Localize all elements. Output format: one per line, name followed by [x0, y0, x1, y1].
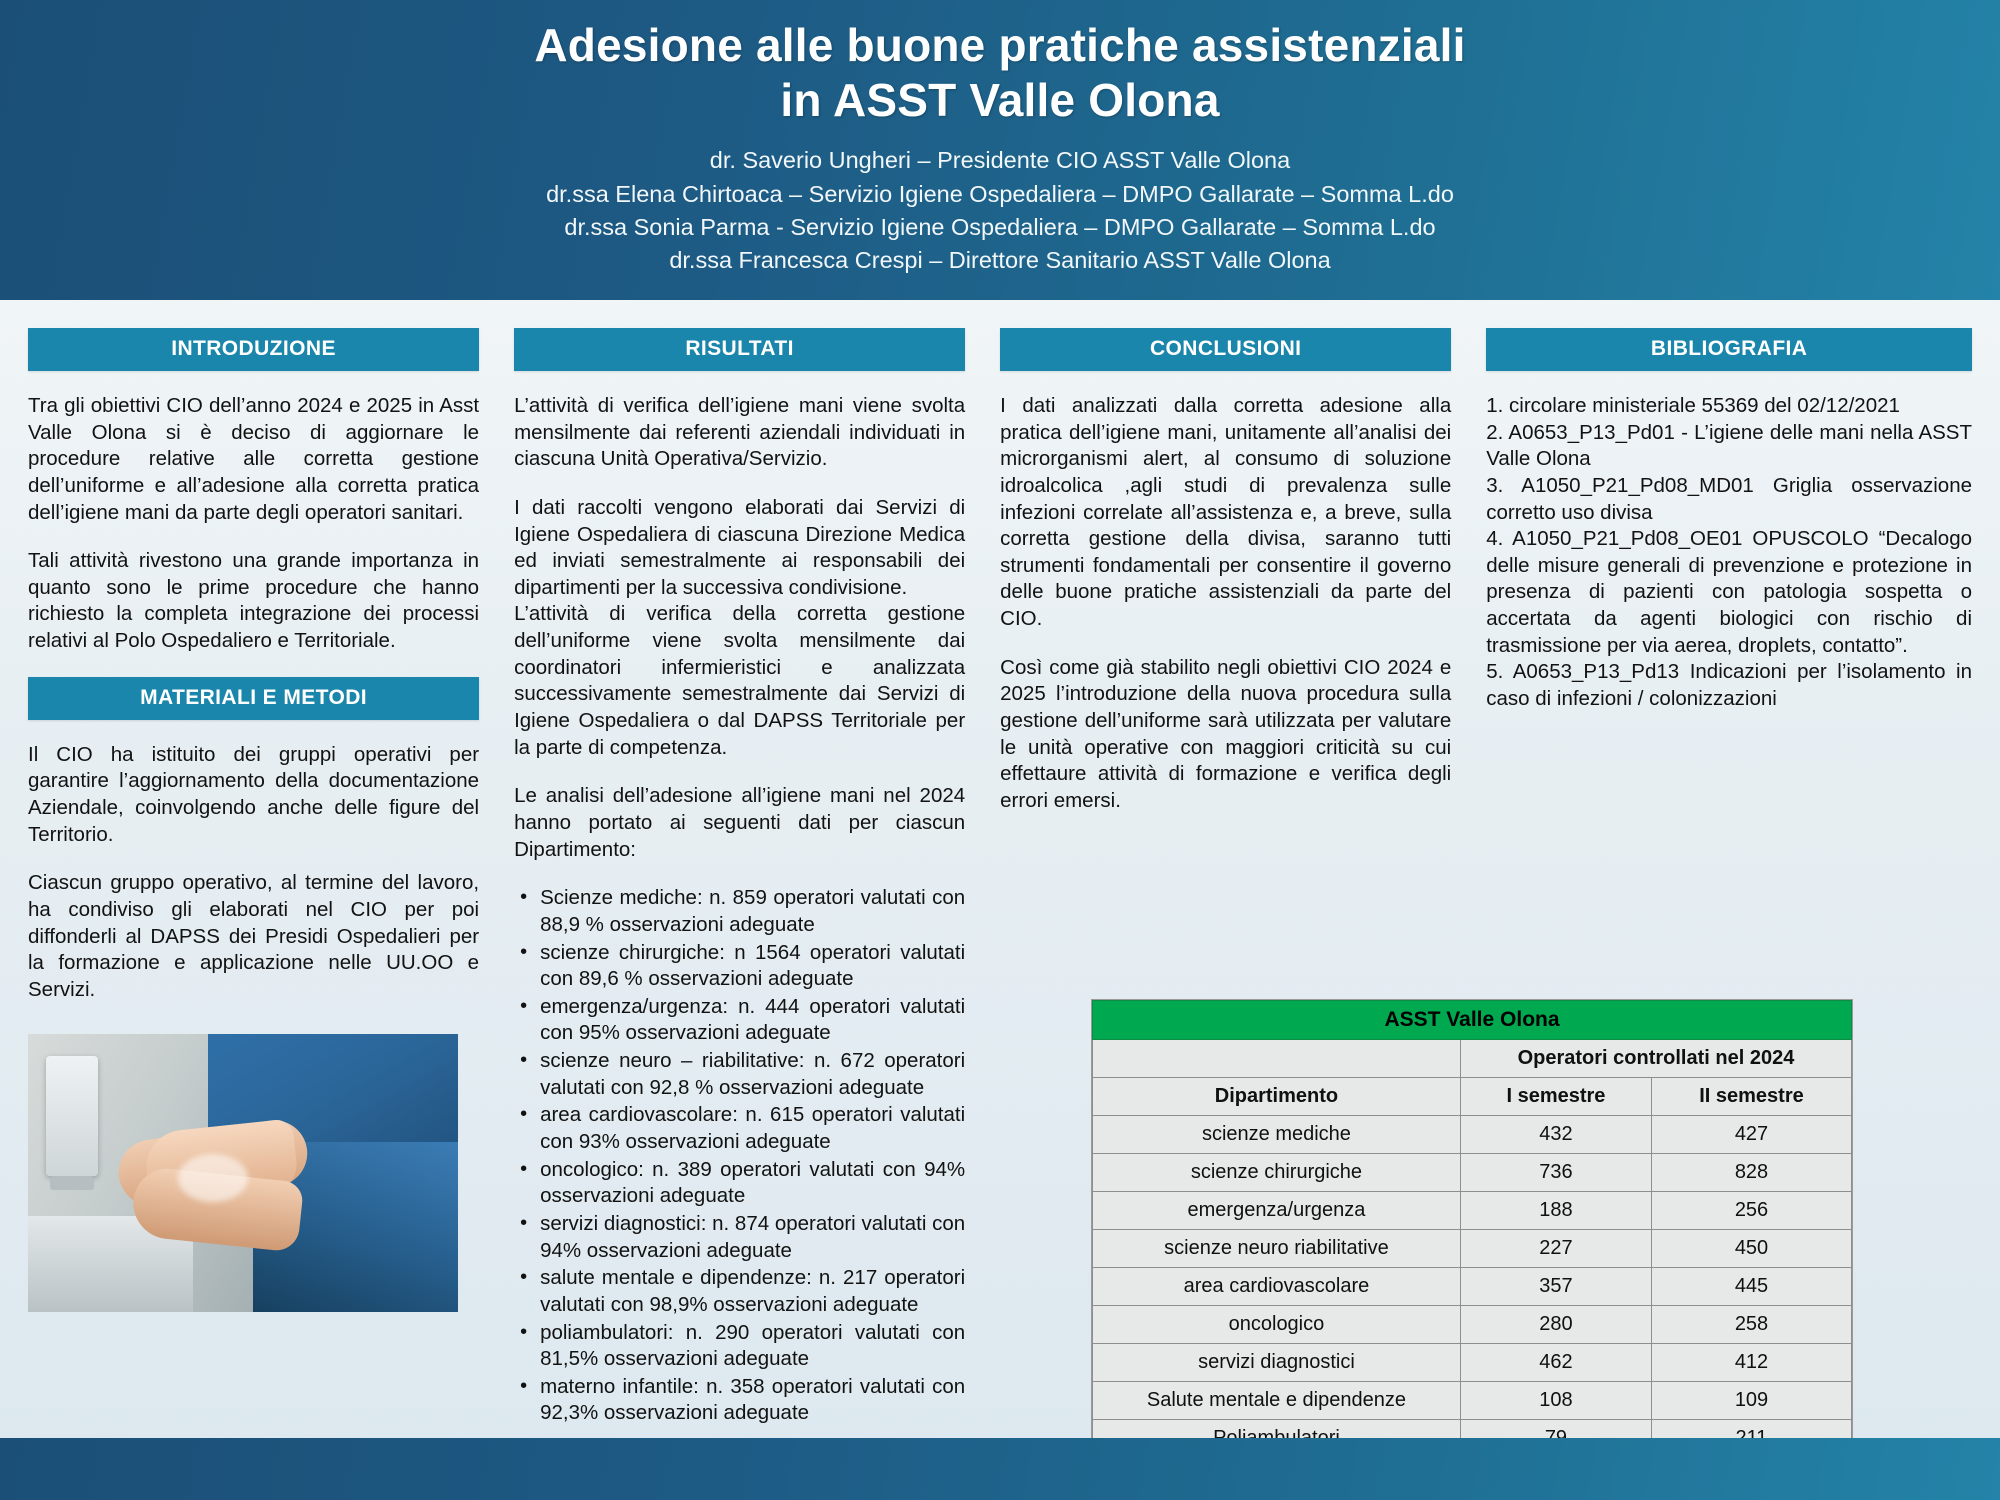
row-value-ii: 109	[1652, 1382, 1852, 1420]
table-row: servizi diagnostici 462 412	[1093, 1344, 1852, 1382]
column-header-ii-semestre: II semestre	[1652, 1078, 1852, 1116]
bibliography-entry: 5. A0653_P13_Pd13 Indicazioni per l’isol…	[1486, 659, 1972, 712]
list-item: salute mentale e dipendenze: n. 217 oper…	[514, 1265, 965, 1318]
risultati-paragraph-2: I dati raccolti vengono elaborati dai Se…	[514, 495, 965, 602]
table-supertitle: Operatori controllati nel 2024	[1460, 1040, 1851, 1078]
row-label: oncologico	[1093, 1306, 1461, 1344]
materiali-paragraph-2: Ciascun gruppo operativo, al termine del…	[28, 870, 479, 1003]
row-value-i: 227	[1460, 1230, 1651, 1268]
row-value-ii: 450	[1652, 1230, 1852, 1268]
table-row: scienze chirurgiche 736 828	[1093, 1154, 1852, 1192]
row-label: area cardiovascolare	[1093, 1268, 1461, 1306]
row-value-i: 108	[1460, 1382, 1651, 1420]
foam-shape	[178, 1154, 248, 1202]
table-row: scienze mediche 432 427	[1093, 1116, 1852, 1154]
row-value-i: 188	[1460, 1192, 1651, 1230]
row-label: scienze neuro riabilitative	[1093, 1230, 1461, 1268]
row-value-i: 280	[1460, 1306, 1651, 1344]
list-item: Scienze mediche: n. 859 operatori valuta…	[514, 885, 965, 938]
column-left: INTRODUZIONE Tra gli obiettivi CIO dell’…	[28, 328, 514, 1440]
table-supertitle-row: Operatori controllati nel 2024	[1093, 1040, 1852, 1078]
introduzione-paragraph-2: Tali attività rivestono una grande impor…	[28, 548, 479, 655]
row-label: Salute mentale e dipendenze	[1093, 1382, 1461, 1420]
row-label: servizi diagnostici	[1093, 1344, 1461, 1382]
section-banner-introduzione: INTRODUZIONE	[28, 328, 479, 371]
operators-table: ASST Valle Olona Operatori controllati n…	[1092, 1000, 1852, 1500]
risultati-paragraph-4: Le analisi dell’adesione all’igiene mani…	[514, 783, 965, 863]
table-blank-cell	[1093, 1040, 1461, 1078]
row-value-i: 736	[1460, 1154, 1651, 1192]
row-value-ii: 412	[1652, 1344, 1852, 1382]
table-row: scienze neuro riabilitative 227 450	[1093, 1230, 1852, 1268]
introduzione-paragraph-1: Tra gli obiettivi CIO dell’anno 2024 e 2…	[28, 393, 479, 526]
dispenser-lever-icon	[50, 1176, 94, 1190]
author-line: dr.ssa Elena Chirtoaca – Servizio Igiene…	[0, 178, 2000, 211]
row-value-ii: 258	[1652, 1306, 1852, 1344]
bibliography-entry: 1. circolare ministeriale 55369 del 02/1…	[1486, 393, 1972, 420]
hand-hygiene-photo	[28, 1034, 458, 1312]
materiali-paragraph-1: Il CIO ha istituito dei gruppi operativi…	[28, 742, 479, 849]
bibliography-entry: 2. A0653_P13_Pd01 - L’igiene delle mani …	[1486, 420, 1972, 473]
row-value-ii: 256	[1652, 1192, 1852, 1230]
column-header-i-semestre: I semestre	[1460, 1078, 1651, 1116]
footer-strip	[0, 1438, 2000, 1500]
bibliography-list: 1. circolare ministeriale 55369 del 02/1…	[1486, 393, 1972, 713]
row-value-i: 462	[1460, 1344, 1651, 1382]
page-title: Adesione alle buone pratiche assistenzia…	[0, 18, 2000, 128]
list-item: oncologico: n. 389 operatori valutati co…	[514, 1157, 965, 1210]
column-header-dipartimento: Dipartimento	[1093, 1078, 1461, 1116]
table-header-row: Dipartimento I semestre II semestre	[1093, 1078, 1852, 1116]
conclusioni-paragraph-2: Così come già stabilito negli obiettivi …	[1000, 655, 1451, 815]
table-row: Salute mentale e dipendenze 108 109	[1093, 1382, 1852, 1420]
risultati-bullet-list: Scienze mediche: n. 859 operatori valuta…	[514, 885, 965, 1427]
soap-dispenser-icon	[46, 1056, 98, 1176]
page-title-line-1: Adesione alle buone pratiche assistenzia…	[0, 18, 2000, 73]
table-row: emergenza/urgenza 188 256	[1093, 1192, 1852, 1230]
section-banner-bibliografia: BIBLIOGRAFIA	[1486, 328, 1972, 371]
section-banner-risultati: RISULTATI	[514, 328, 965, 371]
row-label: emergenza/urgenza	[1093, 1192, 1461, 1230]
table-title: ASST Valle Olona	[1093, 1001, 1852, 1040]
list-item: materno infantile: n. 358 operatori valu…	[514, 1374, 965, 1427]
risultati-paragraph-1: L’attività di verifica dell’igiene mani …	[514, 393, 965, 473]
row-label: scienze mediche	[1093, 1116, 1461, 1154]
table-row: area cardiovascolare 357 445	[1093, 1268, 1852, 1306]
table-row: oncologico 280 258	[1093, 1306, 1852, 1344]
row-value-ii: 427	[1652, 1116, 1852, 1154]
table-title-row: ASST Valle Olona	[1093, 1001, 1852, 1040]
bibliography-entry: 4. A1050_P21_Pd08_OE01 OPUSCOLO “Decalog…	[1486, 526, 1972, 659]
list-item: emergenza/urgenza: n. 444 operatori valu…	[514, 994, 965, 1047]
risultati-paragraph-3: L’attività di verifica della corretta ge…	[514, 601, 965, 761]
author-list: dr. Saverio Ungheri – Presidente CIO ASS…	[0, 144, 2000, 277]
section-banner-materiali-e-metodi: MATERIALI E METODI	[28, 677, 479, 720]
author-line: dr.ssa Sonia Parma - Servizio Igiene Osp…	[0, 211, 2000, 244]
list-item: servizi diagnostici: n. 874 operatori va…	[514, 1211, 965, 1264]
list-item: scienze chirurgiche: n 1564 operatori va…	[514, 940, 965, 993]
column-risultati: RISULTATI L’attività di verifica dell’ig…	[514, 328, 1000, 1440]
row-value-ii: 445	[1652, 1268, 1852, 1306]
page-title-line-2: in ASST Valle Olona	[0, 73, 2000, 128]
author-line: dr.ssa Francesca Crespi – Direttore Sani…	[0, 244, 2000, 277]
conclusioni-paragraph-1: I dati analizzati dalla corretta adesion…	[1000, 393, 1451, 633]
row-value-i: 432	[1460, 1116, 1651, 1154]
list-item: area cardiovascolare: n. 615 operatori v…	[514, 1102, 965, 1155]
row-label: scienze chirurgiche	[1093, 1154, 1461, 1192]
bibliography-entry: 3. A1050_P21_Pd08_MD01 Griglia osservazi…	[1486, 473, 1972, 526]
row-value-i: 357	[1460, 1268, 1651, 1306]
author-line: dr. Saverio Ungheri – Presidente CIO ASS…	[0, 144, 2000, 177]
row-value-ii: 828	[1652, 1154, 1852, 1192]
section-banner-conclusioni: CONCLUSIONI	[1000, 328, 1451, 371]
poster-header: Adesione alle buone pratiche assistenzia…	[0, 0, 2000, 300]
list-item: scienze neuro – riabilitative: n. 672 op…	[514, 1048, 965, 1101]
operators-table-container: ASST Valle Olona Operatori controllati n…	[1092, 1000, 1852, 1500]
list-item: poliambulatori: n. 290 operatori valutat…	[514, 1320, 965, 1373]
